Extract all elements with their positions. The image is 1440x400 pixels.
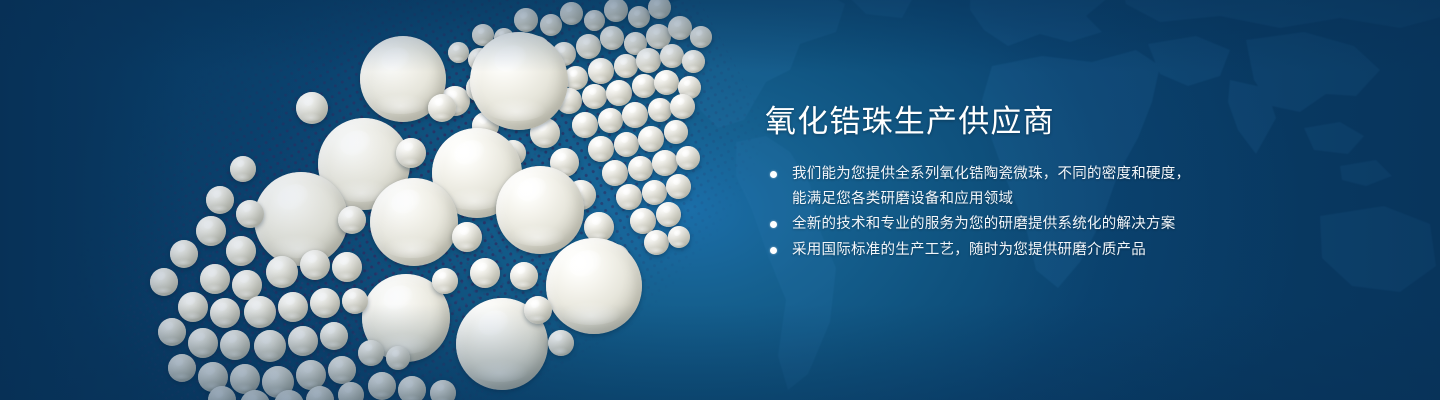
feature-list: 我们能为您提供全系列氧化锆陶瓷微珠，不同的密度和硬度， 能满足您各类研磨设备和应…	[765, 162, 1235, 262]
list-item: 全新的技术和专业的服务为您的研磨提供系统化的解决方案	[765, 212, 1235, 237]
bullet-dot-icon	[770, 171, 777, 178]
feature-text-1b: 能满足您各类研磨设备和应用领域	[792, 187, 1235, 212]
feature-text-2a: 全新的技术和专业的服务为您的研磨提供系统化的解决方案	[792, 216, 1176, 232]
feature-text-3a: 采用国际标准的生产工艺，随时为您提供研磨介质产品	[792, 242, 1146, 258]
bullet-dot-icon	[770, 221, 777, 228]
banner-copy: 氧化锆珠生产供应商 我们能为您提供全系列氧化锆陶瓷微珠，不同的密度和硬度， 能满…	[765, 104, 1235, 263]
bullet-dot-icon	[770, 247, 777, 254]
page-title: 氧化锆珠生产供应商	[765, 104, 1235, 140]
hero-banner: 氧化锆珠生产供应商 我们能为您提供全系列氧化锆陶瓷微珠，不同的密度和硬度， 能满…	[0, 0, 1440, 400]
list-item: 我们能为您提供全系列氧化锆陶瓷微珠，不同的密度和硬度， 能满足您各类研磨设备和应…	[765, 162, 1235, 211]
feature-text-1a: 我们能为您提供全系列氧化锆陶瓷微珠，不同的密度和硬度，	[792, 166, 1190, 182]
list-item: 采用国际标准的生产工艺，随时为您提供研磨介质产品	[765, 238, 1235, 263]
